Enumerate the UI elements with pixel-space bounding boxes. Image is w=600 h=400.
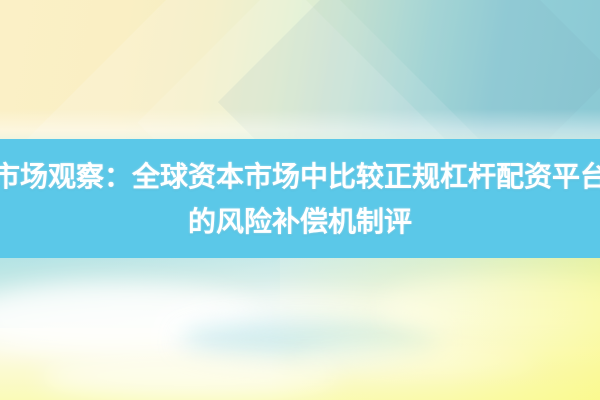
top-decorative-band: [0, 0, 600, 139]
diagonal-facet-shadow-icon: [218, 0, 600, 139]
cloud-shape-icon: [40, 354, 340, 398]
top-band-bottom-fade: [0, 109, 600, 139]
banner-image: 市场观察：全球资本市场中比较正规杠杆配资平台 的风险补偿机制评: [0, 0, 600, 400]
cloud-shape-icon: [300, 342, 540, 378]
bottom-decorative-band: [0, 258, 600, 400]
cloud-shape-icon: [180, 320, 440, 360]
cloud-shape-icon: [0, 284, 260, 354]
headline-line-1: 市场观察：全球资本市场中比较正规杠杆配资平台: [0, 154, 600, 199]
diagonal-facet-icon: [3, 0, 533, 139]
diagonal-facet-highlight-icon: [137, 0, 512, 139]
cloud-shape-icon: [380, 276, 600, 338]
cloud-shape-icon: [150, 298, 450, 356]
bottom-band-cool-wash: [0, 258, 280, 328]
title-banner: 市场观察：全球资本市场中比较正规杠杆配资平台 的风险补偿机制评: [0, 139, 600, 258]
headline-line-2: 的风险补偿机制评: [188, 199, 412, 244]
bottom-band-warm-wash: [270, 258, 600, 400]
